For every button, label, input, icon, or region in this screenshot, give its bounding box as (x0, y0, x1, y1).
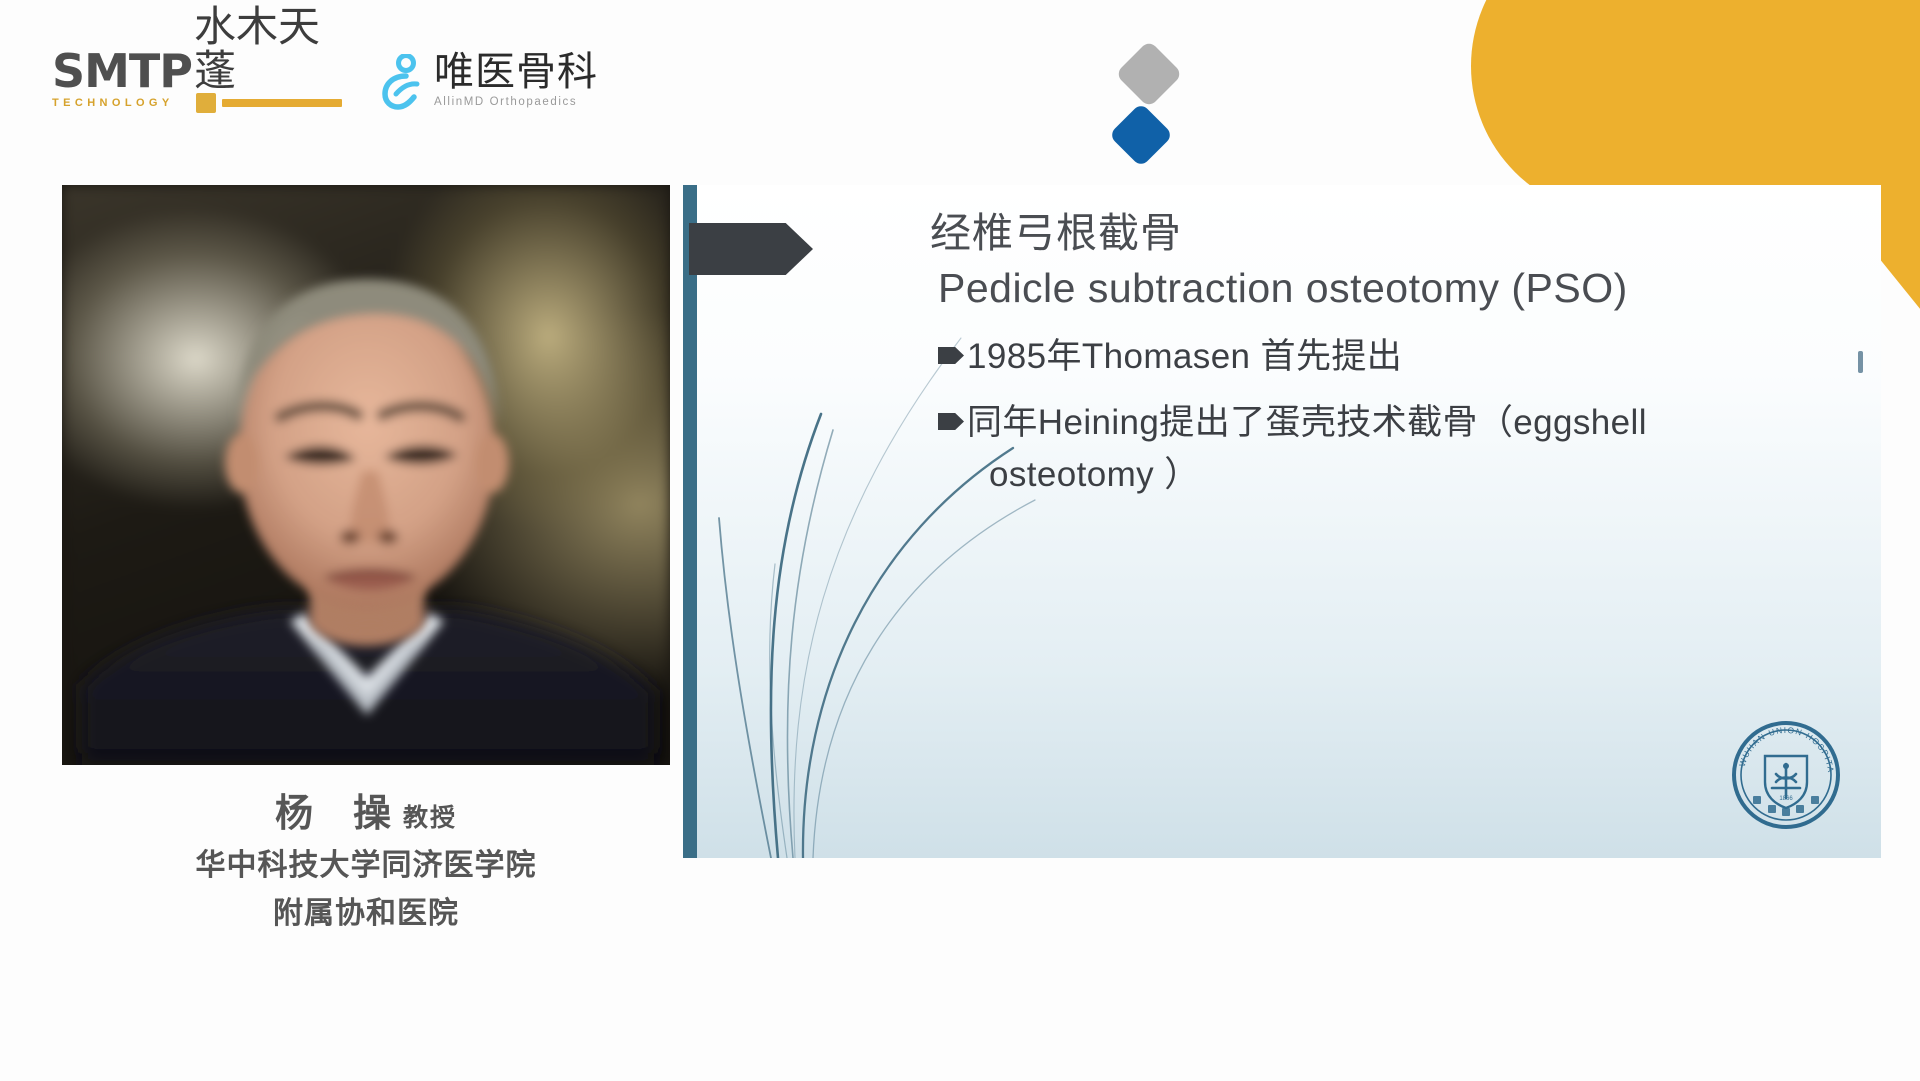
smtp-underline-rule (222, 99, 342, 107)
hospital-seal-year: 1866 (1779, 796, 1793, 802)
allinmd-person-icon (380, 54, 426, 110)
speaker-portrait (62, 185, 670, 765)
slide-title-block: 经椎弓根截骨 Pedicle subtraction osteotomy (PS… (930, 207, 1830, 317)
slide-title-chinese: 经椎弓根截骨 (930, 207, 1830, 259)
speaker-name-line: 杨操教授 (62, 790, 670, 842)
speaker-affiliation-line2: 附属协和医院 (62, 890, 670, 938)
bullet-text-continuation: osteotomy ） (967, 449, 1647, 501)
bullet-arrow-icon (938, 413, 964, 430)
grey-diamond-decoration (1115, 40, 1183, 108)
speaker-surname: 杨 (275, 793, 315, 835)
bullet-text: 同年Heining提出了蛋壳技术截骨（eggshell (967, 403, 1647, 442)
speaker-academic-title: 教授 (403, 804, 457, 832)
presentation-slide[interactable]: 经椎弓根截骨 Pedicle subtraction osteotomy (PS… (683, 185, 1881, 858)
slide-title-english: Pedicle subtraction osteotomy (PSO) (930, 259, 1830, 317)
speaker-given-name: 操 (353, 793, 393, 835)
allinmd-logo: 唯医骨科 AllinMD Orthopaedics (380, 51, 598, 110)
allinmd-english-name: AllinMD Orthopaedics (434, 94, 598, 110)
hospital-seal-logo: WUHAN UNION HOSPITAL OF CHINA 1866 (1731, 720, 1841, 830)
smtp-chinese-name: 水木天蓬 (194, 5, 342, 93)
blue-diamond-decoration (1108, 102, 1173, 167)
speaker-video-feed[interactable] (62, 185, 670, 765)
broadcast-canvas: SMTP 水木天蓬 TECHNOLOGY 唯医骨科 AllinMD Orthop… (0, 0, 1920, 1081)
speaker-affiliation-line1: 华中科技大学同济医学院 (62, 842, 670, 890)
slide-bullet-list: 1985年Thomasen 首先提出 同年Heining提出了蛋壳技术截骨（eg… (938, 331, 1838, 515)
allinmd-chinese-name: 唯医骨科 (434, 51, 598, 93)
bullet-text: 1985年Thomasen 首先提出 (967, 331, 1402, 383)
speaker-info: 杨操教授 华中科技大学同济医学院 附属协和医院 (62, 790, 670, 938)
list-item: 同年Heining提出了蛋壳技术截骨（eggshell osteotomy ） (938, 397, 1838, 501)
brand-logo-row: SMTP 水木天蓬 TECHNOLOGY 唯医骨科 AllinMD Orthop… (52, 44, 598, 110)
bullet-arrow-icon (938, 347, 964, 364)
smtp-logo: SMTP 水木天蓬 TECHNOLOGY (52, 5, 342, 110)
smtp-seal-icon (196, 93, 216, 113)
smtp-wordmark: SMTP (52, 49, 192, 93)
yellow-pill-decoration (1471, 0, 1920, 216)
slide-right-tick-mark (1858, 351, 1863, 373)
list-item: 1985年Thomasen 首先提出 (938, 331, 1838, 383)
smtp-tagline: TECHNOLOGY (52, 97, 198, 109)
